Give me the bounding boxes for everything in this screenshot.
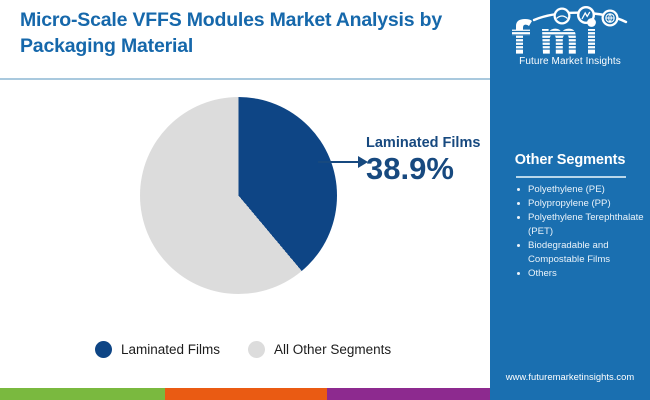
legend-item-laminated-films: Laminated Films — [95, 341, 220, 358]
callout-value: 38.9% — [366, 153, 486, 186]
other-segments-list: Polyethylene (PE)Polypropylene (PP)Polye… — [514, 183, 648, 281]
list-item: Polyethylene Terephthalate (PET) — [514, 211, 648, 238]
header-divider — [0, 78, 490, 80]
list-item: Biodegradable and Compostable Films — [514, 239, 648, 266]
page-title: Micro-Scale VFFS Modules Market Analysis… — [20, 8, 470, 59]
website-url: www.futuremarketinsights.com — [490, 371, 650, 382]
list-item: Polyethylene (PE) — [514, 183, 648, 197]
orange-segment — [165, 388, 327, 400]
side-panel-heading: Other Segments — [490, 152, 650, 168]
callout-leader-line — [318, 161, 362, 163]
pie-chart — [140, 97, 337, 294]
pie-slices — [140, 97, 337, 294]
infographic-canvas: Micro-Scale VFFS Modules Market Analysis… — [0, 0, 650, 400]
callout-block: Laminated Films 38.9% — [366, 136, 486, 185]
legend-item-label: Laminated Films — [121, 342, 220, 357]
legend-swatch-icon — [95, 341, 112, 358]
side-panel-divider — [516, 176, 626, 178]
purple-segment — [327, 388, 490, 400]
brand-logo: Future Market Insights — [490, 6, 650, 72]
legend-swatch-icon — [248, 341, 265, 358]
bottom-color-bar — [0, 388, 490, 400]
side-panel: Future Market Insights Other Segments Po… — [490, 0, 650, 400]
fmi-logo-icon — [506, 6, 634, 54]
brand-tagline: Future Market Insights — [490, 56, 650, 67]
legend-item-label: All Other Segments — [274, 342, 391, 357]
green-segment — [0, 388, 165, 400]
list-item: Others — [514, 267, 648, 281]
chart-legend: Laminated Films All Other Segments — [95, 341, 391, 358]
main-content-area: Micro-Scale VFFS Modules Market Analysis… — [0, 0, 490, 388]
list-item: Polypropylene (PP) — [514, 197, 648, 211]
callout-label: Laminated Films — [366, 136, 486, 152]
legend-item-all-other-segments: All Other Segments — [248, 341, 391, 358]
